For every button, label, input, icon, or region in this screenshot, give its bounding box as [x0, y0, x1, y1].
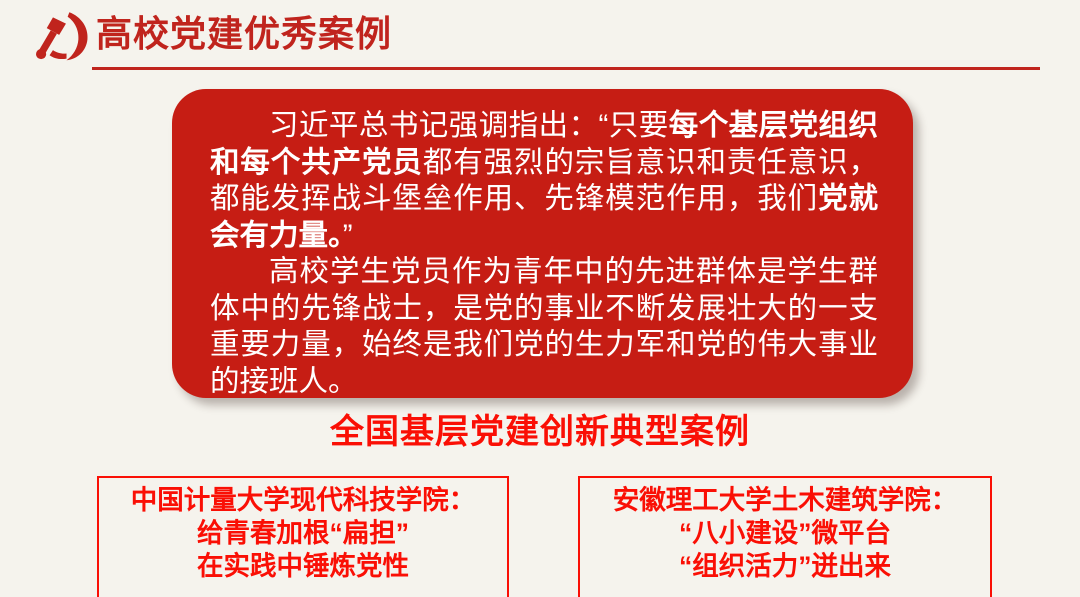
case-card-left-line-2: 给青春加根“扁担” — [99, 517, 507, 550]
quote-paragraph-2: 高校学生党员作为青年中的先进群体是学生群体中的先锋战士，是党的事业不断发展壮大的… — [210, 254, 878, 400]
quote-text: 习近平总书记强调指出：“只要每个基层党组织和每个共产党员都有强烈的宗旨意识和责任… — [210, 108, 878, 400]
case-card-right-line-2: “八小建设”微平台 — [580, 517, 990, 550]
case-card-left-line-3: 在实践中锤炼党性 — [99, 550, 507, 583]
section-heading: 全国基层党建创新典型案例 — [0, 410, 1080, 454]
case-card-left[interactable]: 中国计量大学现代科技学院： 给青春加根“扁担” 在实践中锤炼党性 — [97, 476, 509, 597]
case-card-right[interactable]: 安徽理工大学土木建筑学院： “八小建设”微平台 “组织活力”迸出来 — [578, 476, 992, 597]
quote-paragraph-1: 习近平总书记强调指出：“只要每个基层党组织和每个共产党员都有强烈的宗旨意识和责任… — [210, 108, 878, 254]
quote-segment-1-5: ” — [343, 219, 353, 252]
case-card-right-line-1: 安徽理工大学土木建筑学院： — [580, 484, 990, 517]
case-card-right-line-3: “组织活力”迸出来 — [580, 550, 990, 583]
slide-header: 高校党建优秀案例 — [0, 0, 1080, 78]
quote-callout-card: 习近平总书记强调指出：“只要每个基层党组织和每个共产党员都有强烈的宗旨意识和责任… — [172, 89, 913, 398]
quote-segment-2-1: 高校学生党员作为青年中的先进群体是学生群体中的先锋战士，是党的事业不断发展壮大的… — [210, 255, 878, 398]
case-card-left-line-1: 中国计量大学现代科技学院： — [99, 484, 507, 517]
quote-segment-1-1: 习近平总书记强调指出：“只要 — [269, 109, 669, 142]
header-divider-rule — [92, 67, 1040, 70]
page-title: 高校党建优秀案例 — [96, 10, 392, 58]
hammer-sickle-party-emblem-icon — [33, 10, 91, 62]
